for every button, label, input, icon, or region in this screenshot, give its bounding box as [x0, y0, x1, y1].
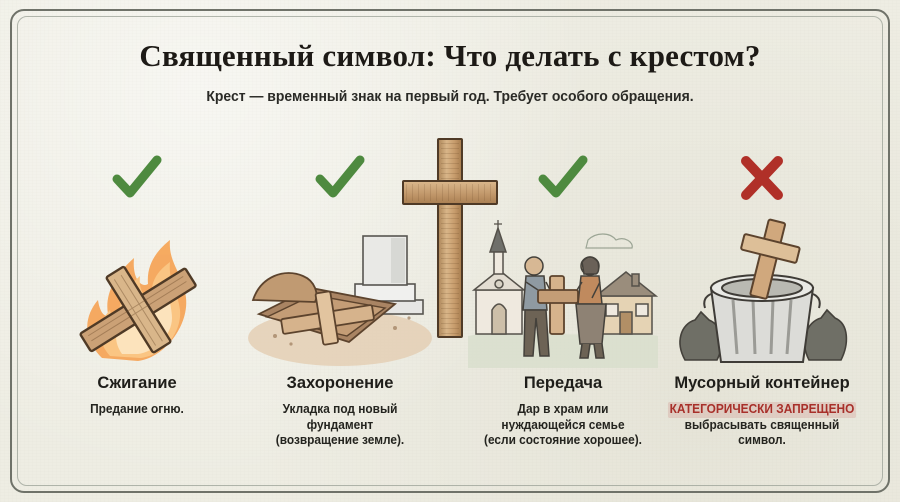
option-description: выбрасывать священныйсимвол. [685, 418, 840, 448]
option-description: Дар в храм илинуждающейся семье(если сос… [468, 402, 658, 449]
option-trash: Мусорный контейнер КАТЕГОРИЧЕСКИ ЗАПРЕЩЕ… [662, 140, 862, 480]
option-burning: Сжигание Предание огню. [37, 140, 237, 480]
cross-vertical-beam [437, 138, 463, 338]
check-icon [535, 152, 591, 204]
option-caption: Сжигание [37, 374, 237, 393]
option-description-block: КАТЕГОРИЧЕСКИ ЗАПРЕЩЕНО выбрасывать свящ… [667, 402, 857, 449]
check-icon [109, 152, 165, 204]
cross-handover-church-house-icon [468, 218, 658, 368]
cross-x-icon [734, 152, 790, 204]
forbidden-warning-badge: КАТЕГОРИЧЕСКИ ЗАПРЕЩЕНО [668, 402, 856, 418]
option-caption: Захоронение [240, 374, 440, 393]
trash-can-cross-icon [667, 218, 857, 368]
option-caption: Мусорный контейнер [662, 374, 862, 393]
page-subtitle: Крест — временный знак на первый год. Тр… [32, 88, 869, 105]
option-handover: Передача Дар в храм илинуждающейся семье… [463, 140, 663, 480]
infographic-poster: Священный символ: Что делать с крестом? … [0, 0, 900, 502]
page-title: Священный символ: Что делать с крестом? [0, 38, 900, 74]
option-burial: Захоронение Укладка под новыйфундамент(в… [240, 140, 440, 480]
burning-cross-icon [42, 218, 232, 368]
option-description: Предание огню. [42, 402, 232, 418]
option-description: Укладка под новыйфундамент(возвращение з… [245, 402, 435, 449]
check-icon [312, 152, 368, 204]
buried-cross-grave-icon [245, 218, 435, 368]
option-caption: Передача [463, 374, 663, 393]
